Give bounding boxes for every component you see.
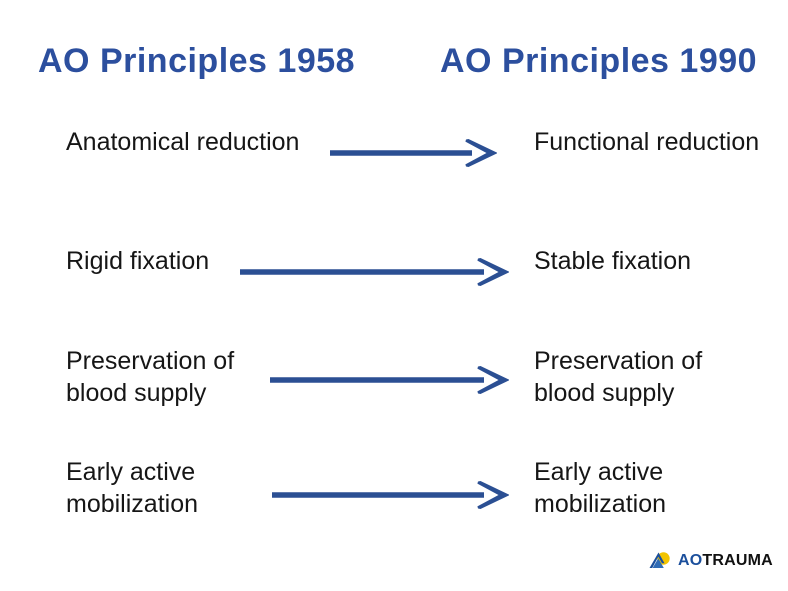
ao-triangle-circle-icon <box>648 551 672 570</box>
principle-left-label: Preservation of blood supply <box>66 345 234 409</box>
heading-right: AO Principles 1990 <box>440 42 757 81</box>
principle-left-label: Early active mobilization <box>66 456 198 520</box>
principle-left-label: Rigid fixation <box>66 245 209 277</box>
arrow-right-icon <box>270 365 510 395</box>
principle-left-label: Anatomical reduction <box>66 126 299 158</box>
logo-text-trauma: TRAUMA <box>702 552 773 569</box>
principle-right-label: Functional reduction <box>534 126 759 158</box>
principle-right-label: Early active mobilization <box>534 456 666 520</box>
arrow-right-icon <box>272 480 510 510</box>
logo-text-ao: AO <box>678 552 702 569</box>
arrow-right-icon <box>330 138 498 168</box>
principle-right-label: Preservation of blood supply <box>534 345 702 409</box>
heading-left: AO Principles 1958 <box>38 42 355 81</box>
principle-right-label: Stable fixation <box>534 245 691 277</box>
aotrauma-wordmark: AOTRAUMA <box>678 553 773 569</box>
aotrauma-logo: AOTRAUMA <box>648 551 773 570</box>
slide-canvas: AO Principles 1958 AO Principles 1990 An… <box>0 0 788 591</box>
arrow-right-icon <box>240 257 510 287</box>
